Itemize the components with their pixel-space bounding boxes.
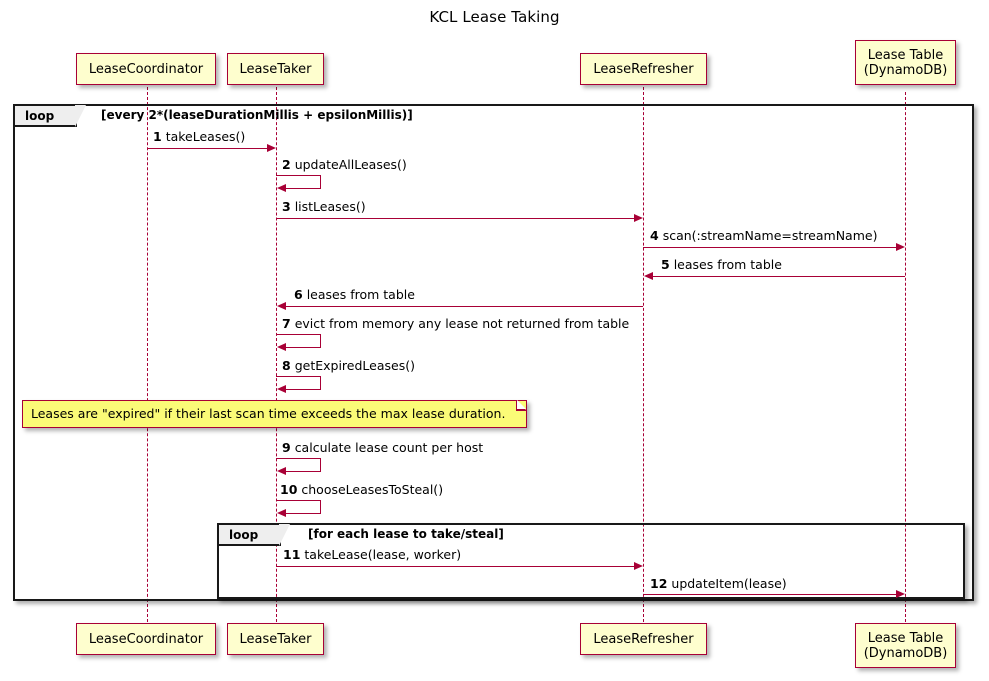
message-self-bottom-8 [285,389,321,390]
message-arrowhead-8 [277,385,286,393]
message-arrowhead-5 [644,272,653,280]
message-line-1 [147,148,268,149]
message-number: 5 [661,257,670,272]
participant-label: LeaseTaker [240,632,312,647]
message-text: getExpiredLeases() [295,358,415,373]
message-number: 11 [283,547,300,562]
message-text: leases from table [307,287,415,302]
message-self-top-8 [276,376,321,377]
message-self-right-7 [320,334,321,347]
participant-label: LeaseCoordinator [89,62,203,77]
fragment-outer-loop-label: loop [15,106,77,127]
message-line-5 [652,276,905,277]
message-label-8: 8 getExpiredLeases() [282,358,415,373]
message-label-1: 1 takeLeases() [153,129,245,144]
message-arrowhead-2 [277,184,286,192]
message-self-bottom-10 [285,513,321,514]
note-fold-corner-inner [517,400,526,409]
participant-taker-top[interactable]: LeaseTaker [227,53,324,85]
message-label-6: 6 leases from table [294,287,415,302]
message-number: 7 [282,316,291,331]
message-line-12 [643,594,896,595]
participant-refresher-top[interactable]: LeaseRefresher [580,53,707,85]
message-arrowhead-3 [634,214,643,222]
participant-label: Lease Table (DynamoDB) [864,48,948,78]
message-text: takeLease(lease, worker) [304,547,461,562]
message-arrowhead-4 [896,243,905,251]
message-text: updateAllLeases() [295,157,407,172]
message-label-10: 10 chooseLeasesToSteal() [280,482,443,497]
page-title: KCL Lease Taking [0,8,989,26]
message-text: scan(:streamName=streamName) [663,228,878,243]
message-self-right-8 [320,376,321,389]
message-self-right-2 [320,175,321,188]
message-label-7: 7 evict from memory any lease not return… [282,316,629,331]
message-label-3: 3 listLeases() [282,199,366,214]
message-text: updateItem(lease) [671,576,786,591]
message-label-11: 11 takeLease(lease, worker) [283,547,461,562]
message-arrowhead-11 [634,562,643,570]
message-label-2: 2 updateAllLeases() [282,157,407,172]
participant-label: LeaseTaker [240,62,312,77]
participant-coordinator-bottom[interactable]: LeaseCoordinator [76,623,216,655]
message-label-5: 5 leases from table [661,257,782,272]
sequence-diagram-canvas: KCL Lease Taking LeaseCoordinator LeaseT… [0,0,989,681]
message-self-bottom-7 [285,347,321,348]
participant-label: LeaseCoordinator [89,632,203,647]
participant-refresher-bottom[interactable]: LeaseRefresher [580,623,707,655]
message-arrowhead-7 [277,343,286,351]
message-number: 4 [650,228,659,243]
fragment-outer-loop-condition: [every 2*(leaseDurationMillis + epsilonM… [101,108,413,122]
message-text: calculate lease count per host [295,440,483,455]
participant-table-bottom[interactable]: Lease Table (DynamoDB) [855,623,956,668]
note-expired-leases: Leases are "expired" if their last scan … [22,400,527,428]
message-number: 10 [280,482,297,497]
message-self-top-2 [276,175,321,176]
message-number: 3 [282,199,291,214]
participant-coordinator-top[interactable]: LeaseCoordinator [76,53,216,85]
message-self-bottom-2 [285,188,321,189]
message-label-4: 4 scan(:streamName=streamName) [650,228,877,243]
message-line-3 [276,218,634,219]
note-text: Leases are "expired" if their last scan … [31,406,505,421]
message-line-6 [285,306,643,307]
message-self-bottom-9 [285,471,321,472]
participant-label: LeaseRefresher [593,632,693,647]
message-text: listLeases() [295,199,366,214]
message-self-top-9 [276,458,321,459]
message-text: leases from table [674,257,782,272]
message-arrowhead-12 [896,590,905,598]
message-self-top-10 [276,500,321,501]
message-label-12: 12 updateItem(lease) [650,576,787,591]
message-self-top-7 [276,334,321,335]
message-number: 9 [282,440,291,455]
message-line-11 [276,566,634,567]
message-number: 1 [153,129,162,144]
message-number: 8 [282,358,291,373]
fragment-inner-loop-label: loop [219,525,281,546]
message-arrowhead-9 [277,467,286,475]
participant-table-top[interactable]: Lease Table (DynamoDB) [855,40,956,85]
participant-label: LeaseRefresher [593,62,693,77]
message-number: 2 [282,157,291,172]
message-text: evict from memory any lease not returned… [295,316,630,331]
fragment-inner-loop-condition: [for each lease to take/steal] [308,527,504,541]
participant-label: Lease Table (DynamoDB) [864,631,948,661]
message-arrowhead-1 [267,144,276,152]
message-text: chooseLeasesToSteal() [301,482,443,497]
message-self-right-10 [320,500,321,513]
message-text: takeLeases() [166,129,246,144]
message-arrowhead-6 [277,302,286,310]
message-number: 6 [294,287,303,302]
message-line-4 [643,247,896,248]
message-arrowhead-10 [277,509,286,517]
message-self-right-9 [320,458,321,471]
message-label-9: 9 calculate lease count per host [282,440,483,455]
message-number: 12 [650,576,667,591]
participant-taker-bottom[interactable]: LeaseTaker [227,623,324,655]
